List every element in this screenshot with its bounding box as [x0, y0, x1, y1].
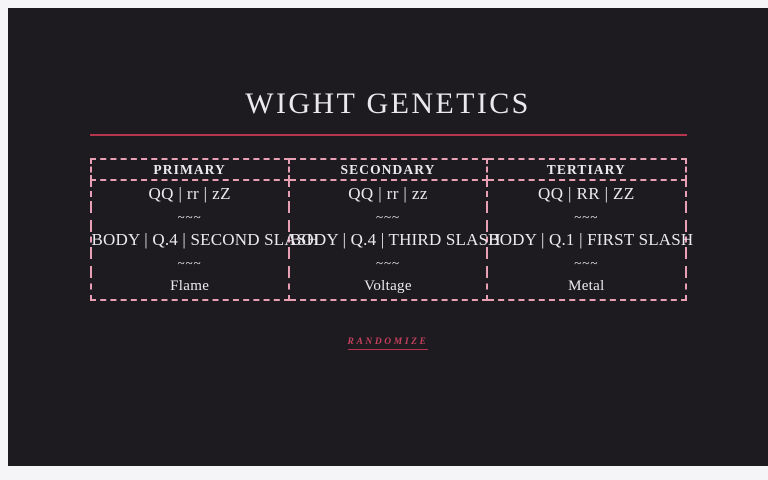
genetics-table-head: PRIMARY SECONDARY TERTIARY: [91, 159, 686, 180]
primary-name: Flame: [91, 272, 289, 300]
content-column: WIGHT GENETICS PRIMARY SECONDARY TERTIAR…: [8, 8, 768, 350]
content-panel: WIGHT GENETICS PRIMARY SECONDARY TERTIAR…: [8, 8, 768, 466]
column-header-primary: PRIMARY: [91, 159, 289, 180]
table-row-alleles: QQ | rr | zZ QQ | rr | zz QQ | RR | ZZ: [91, 180, 686, 207]
table-header-row: PRIMARY SECONDARY TERTIARY: [91, 159, 686, 180]
title-divider: [90, 134, 687, 136]
table-row-traits: BODY | Q.4 | SECOND SLASH BODY | Q.4 | T…: [91, 226, 686, 253]
table-row-separator-top: ~~~ ~~~ ~~~: [91, 207, 686, 226]
randomize-row: RANDOMIZE: [8, 331, 768, 350]
column-header-tertiary: TERTIARY: [487, 159, 685, 180]
genetics-table-wrapper: PRIMARY SECONDARY TERTIARY QQ | rr | zZ …: [90, 158, 687, 301]
genetics-table-body: QQ | rr | zZ QQ | rr | zz QQ | RR | ZZ ~…: [91, 180, 686, 300]
column-header-secondary: SECONDARY: [289, 159, 487, 180]
tertiary-alleles: QQ | RR | ZZ: [487, 180, 685, 207]
page-frame: WIGHT GENETICS PRIMARY SECONDARY TERTIAR…: [0, 0, 768, 480]
table-row-names: Flame Voltage Metal: [91, 272, 686, 300]
primary-separator-bottom: ~~~: [91, 253, 289, 272]
secondary-alleles: QQ | rr | zz: [289, 180, 487, 207]
tertiary-traits: BODY | Q.1 | FIRST SLASH: [487, 226, 685, 253]
secondary-traits: BODY | Q.4 | THIRD SLASH: [289, 226, 487, 253]
page-title: WIGHT GENETICS: [8, 8, 768, 119]
genetics-table: PRIMARY SECONDARY TERTIARY QQ | rr | zZ …: [90, 158, 687, 301]
tertiary-name: Metal: [487, 272, 685, 300]
primary-alleles: QQ | rr | zZ: [91, 180, 289, 207]
randomize-button[interactable]: RANDOMIZE: [348, 337, 429, 350]
tertiary-separator-bottom: ~~~: [487, 253, 685, 272]
secondary-name: Voltage: [289, 272, 487, 300]
table-row-separator-bottom: ~~~ ~~~ ~~~: [91, 253, 686, 272]
primary-traits: BODY | Q.4 | SECOND SLASH: [91, 226, 289, 253]
secondary-separator-bottom: ~~~: [289, 253, 487, 272]
primary-separator-top: ~~~: [91, 207, 289, 226]
secondary-separator-top: ~~~: [289, 207, 487, 226]
tertiary-separator-top: ~~~: [487, 207, 685, 226]
